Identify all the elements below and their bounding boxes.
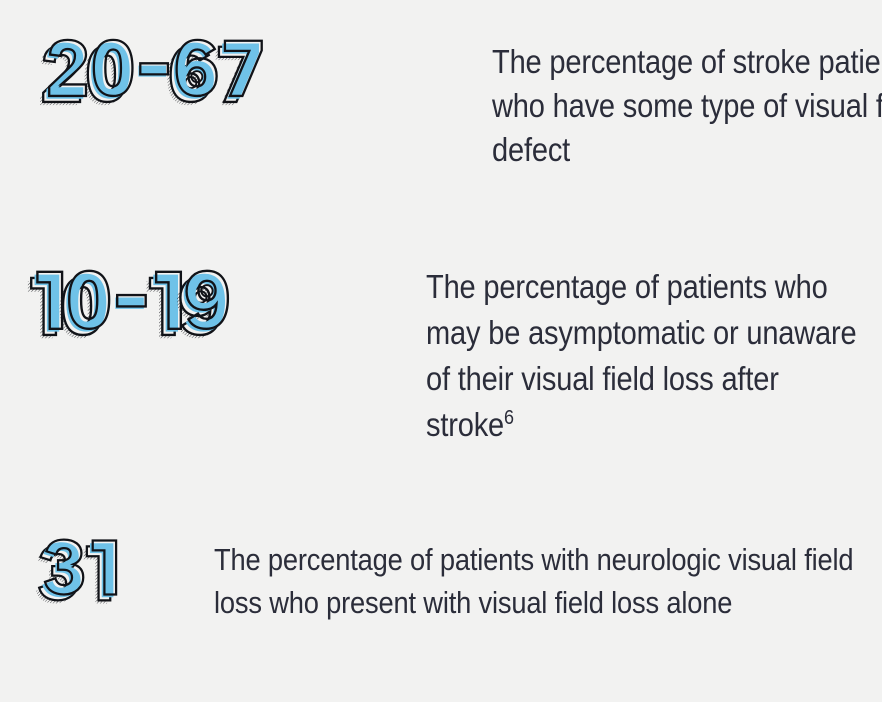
footnote-marker: 6 [504, 406, 514, 429]
stat-block-31: The percentage of patients with neurolog… [36, 536, 882, 656]
infographic-page: The percentage of stroke patients who ha… [0, 0, 882, 702]
numeral-art-20-67 [40, 38, 450, 166]
stat-description-10-19: The percentage of patients who may be as… [426, 264, 866, 448]
numeral-art-10-19 [26, 268, 388, 400]
stat-block-20-67: The percentage of stroke patients who ha… [40, 38, 882, 172]
stat-description-text: The percentage of patients who may be as… [426, 268, 857, 443]
stat-description-31: The percentage of patients with neurolog… [214, 538, 856, 624]
stat-block-10-19: The percentage of patients who may be as… [26, 268, 882, 448]
numeral-art-31 [36, 536, 176, 656]
stat-description-20-67: The percentage of stroke patients who ha… [492, 40, 882, 172]
